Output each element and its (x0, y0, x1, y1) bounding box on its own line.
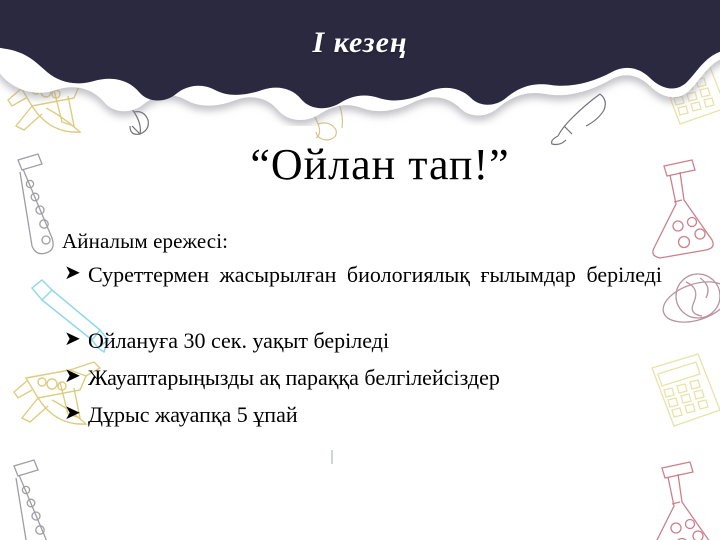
slide-canvas: I кезең “Ойлан тап!” Айналым ережесі: ➤ … (0, 0, 720, 540)
arrow-bullet-icon: ➤ (64, 261, 81, 287)
list-item-label: Суреттермен жасырылған биологиялық ғылым… (88, 261, 662, 317)
list-item-label: Ойлануға 30 сек. уақыт беріледі (88, 328, 389, 353)
arrow-bullet-icon: ➤ (64, 327, 81, 353)
test-tube-icon (4, 458, 74, 540)
flask-icon (648, 462, 720, 540)
list-item: ➤ Жауаптарыңызды ақ параққа белгілейсізд… (62, 364, 662, 392)
rules-list: ➤ Суреттермен жасырылған биологиялық ғыл… (62, 261, 662, 429)
list-item-label: Жауаптарыңызды ақ параққа белгілейсіздер (88, 365, 500, 390)
arrow-bullet-icon: ➤ (64, 401, 81, 427)
planet-icon (656, 262, 720, 342)
list-item: ➤ Ойлануға 30 сек. уақыт беріледі (62, 327, 662, 355)
header-title: I кезең (0, 26, 720, 60)
list-item: ➤ Суреттермен жасырылған биологиялық ғыл… (62, 261, 662, 317)
page-title: “Ойлан тап!” (0, 142, 720, 188)
header-banner (0, 0, 720, 126)
text-cursor-artifact (331, 450, 333, 464)
body-content: Айналым ережесі: ➤ Суреттермен жасырылға… (62, 228, 662, 438)
list-item: ➤ Дұрыс жауапқа 5 ұпай (62, 401, 662, 429)
arrow-bullet-icon: ➤ (64, 364, 81, 390)
intro-label: Айналым ережесі: (62, 228, 662, 254)
list-item-label: Дұрыс жауапқа 5 ұпай (88, 402, 298, 427)
